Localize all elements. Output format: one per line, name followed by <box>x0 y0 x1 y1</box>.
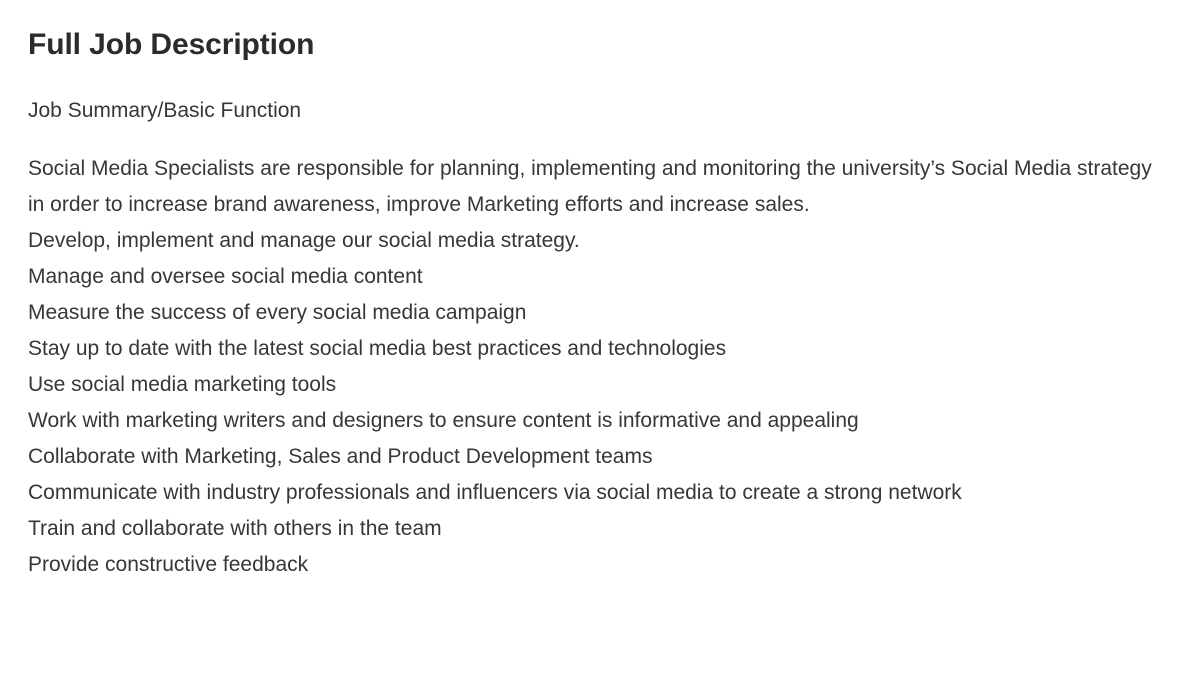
list-item: Collaborate with Marketing, Sales and Pr… <box>28 439 1160 475</box>
paragraph-spacer <box>28 129 1160 151</box>
job-summary-paragraph: Social Media Specialists are responsible… <box>28 151 1160 223</box>
list-item: Measure the success of every social medi… <box>28 295 1160 331</box>
list-item: Provide constructive feedback <box>28 547 1160 583</box>
page-title: Full Job Description <box>28 24 1160 66</box>
list-item: Work with marketing writers and designer… <box>28 403 1160 439</box>
responsibilities-list: Develop, implement and manage our social… <box>28 223 1160 583</box>
heading-spacer <box>28 66 1160 93</box>
job-summary-subheading: Job Summary/Basic Function <box>28 93 1160 129</box>
list-item: Stay up to date with the latest social m… <box>28 331 1160 367</box>
list-item: Train and collaborate with others in the… <box>28 511 1160 547</box>
list-item: Manage and oversee social media content <box>28 259 1160 295</box>
list-item: Use social media marketing tools <box>28 367 1160 403</box>
list-item: Develop, implement and manage our social… <box>28 223 1160 259</box>
job-description-page: Full Job Description Job Summary/Basic F… <box>0 0 1188 700</box>
list-item: Communicate with industry professionals … <box>28 475 1160 511</box>
